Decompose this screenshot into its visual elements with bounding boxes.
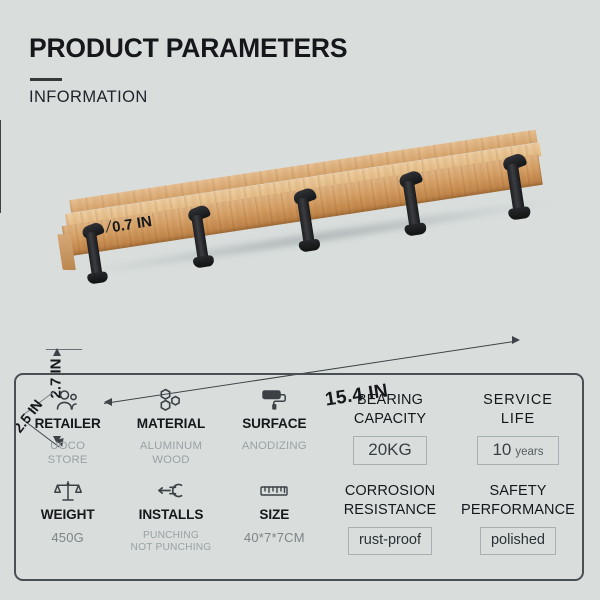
molecule-icon: [158, 387, 184, 413]
feature-installs: INSTALLS PUNCHINGNOT PUNCHING: [119, 478, 222, 569]
feature-title: MATERIAL: [137, 416, 205, 432]
page-subtitle: INFORMATION: [29, 88, 148, 107]
stat-value-box: 20KG: [353, 436, 426, 465]
stat-title: SAFETYPERFORMANCE: [461, 482, 575, 519]
stats-row: BEARINGCAPACITY 20KG SERVICELIFE 10 year…: [326, 391, 582, 482]
feature-title: WEIGHT: [41, 507, 95, 523]
balance-scale-icon: [54, 478, 82, 504]
wrench-icon: [156, 478, 186, 504]
feature-weight: WEIGHT 450G: [16, 478, 119, 569]
ruler-icon: [259, 478, 289, 504]
stats-grid: BEARINGCAPACITY 20KG SERVICELIFE 10 year…: [326, 375, 582, 579]
feature-row: RETAILER UOCOSTORE MATERIAL ALUMINUMWOOD: [16, 387, 326, 478]
feature-value: 450G: [51, 530, 84, 546]
feature-material: MATERIAL ALUMINUMWOOD: [119, 387, 222, 478]
stat-value: 10: [492, 441, 511, 460]
stat-title: BEARINGCAPACITY: [354, 391, 426, 428]
feature-title: INSTALLS: [139, 507, 204, 523]
stat-value: polished: [491, 533, 545, 549]
feature-retailer: RETAILER UOCOSTORE: [16, 387, 119, 478]
height-dimension-cap: [46, 349, 82, 350]
stat-bearing-capacity: BEARINGCAPACITY 20KG: [326, 391, 454, 482]
feature-size: SIZE 40*7*7CM: [223, 478, 326, 569]
height-arrow-top: [53, 348, 61, 356]
feature-row: WEIGHT 450G INSTALLS PUNCHINGNOT PUNCHIN…: [16, 478, 326, 569]
specifications-panel: RETAILER UOCOSTORE MATERIAL ALUMINUMWOOD: [14, 373, 584, 581]
paint-roller-icon: [260, 387, 288, 413]
feature-surface: SURFACE ANODIZING: [223, 387, 326, 478]
height-dimension-line: [0, 120, 1, 213]
stat-corrosion-resistance: CORROSIONRESISTANCE rust-proof: [326, 482, 454, 573]
stat-value-box: 10 years: [477, 436, 558, 465]
stats-row: CORROSIONRESISTANCE rust-proof SAFETYPER…: [326, 482, 582, 573]
length-arrow-right: [512, 336, 520, 344]
product-image: 0.7 IN 2.7 IN 2.5 IN 15.4 IN: [0, 120, 600, 360]
stat-title: SERVICELIFE: [483, 391, 553, 428]
hook-foot: [508, 206, 532, 221]
feature-value: PUNCHINGNOT PUNCHING: [131, 530, 212, 556]
hook-foot: [404, 222, 427, 236]
users-icon: [55, 387, 81, 413]
feature-title: SIZE: [259, 507, 289, 523]
hook-foot: [192, 255, 214, 269]
feature-value: ALUMINUMWOOD: [140, 439, 202, 468]
page-title: PRODUCT PARAMETERS: [29, 33, 347, 64]
feature-title: RETAILER: [35, 416, 101, 432]
stat-service-life: SERVICELIFE 10 years: [454, 391, 582, 482]
stat-safety-performance: SAFETYPERFORMANCE polished: [454, 482, 582, 573]
title-divider-rule: [30, 78, 62, 81]
stat-value: rust-proof: [359, 533, 421, 549]
stat-value-box: rust-proof: [348, 527, 432, 555]
feature-title: SURFACE: [242, 416, 306, 432]
hook-foot: [87, 271, 109, 285]
feature-value: UOCOSTORE: [48, 439, 88, 468]
feature-grid: RETAILER UOCOSTORE MATERIAL ALUMINUMWOOD: [16, 375, 326, 579]
header-section: PRODUCT PARAMETERS INFORMATION: [0, 0, 600, 120]
hook-foot: [298, 239, 321, 253]
stat-unit: years: [515, 446, 543, 459]
stat-value-box: polished: [480, 527, 556, 555]
stat-title: CORROSIONRESISTANCE: [344, 482, 437, 519]
feature-value: ANODIZING: [242, 439, 307, 453]
feature-value: 40*7*7CM: [244, 530, 305, 546]
stat-value: 20KG: [368, 441, 411, 460]
